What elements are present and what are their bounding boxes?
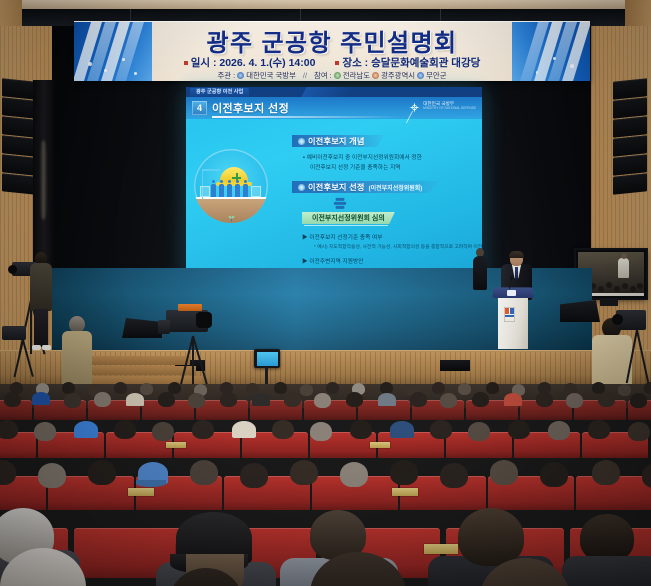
jeonnam-emblem-icon — [334, 72, 341, 79]
monitor-mount — [600, 298, 618, 306]
monitor-person — [618, 258, 629, 278]
gwangju-emblem-icon — [372, 72, 379, 79]
auditorium-photo: 광주 군공항 주민설명회 일시 : 2026. 4. 1.(수) 14:00 장… — [0, 0, 651, 586]
ministry-logo: 대한민국 국방부 MINISTRY OF NATIONAL DEFENSE — [409, 100, 476, 111]
audience-head-dark — [458, 508, 524, 566]
slide-item-2: ▶ 이전주변지역 지원방안 — [302, 257, 363, 265]
confidence-monitor — [254, 349, 280, 368]
event-banner: 광주 군공항 주민설명회 일시 : 2026. 4. 1.(수) 14:00 장… — [74, 21, 590, 81]
banner-title: 광주 군공항 주민설명회 — [152, 25, 512, 55]
ministry-logo-text: 대한민국 국방부 MINISTRY OF NATIONAL DEFENSE — [423, 101, 476, 111]
line-array-speaker-left — [2, 78, 36, 195]
banner-subtitle: 일시 : 2026. 4. 1.(수) 14:00 장소 : 승달문화예술회관 … — [152, 55, 512, 70]
projection-screen: 광주 군공항 이전 사업 4 이전후보지 선정 대한민국 국방부 MINISTR… — [186, 87, 482, 283]
slide-block2-heading: 이전후보지 선정 (이전부지선정위원회) — [292, 181, 440, 193]
slide-block1-heading: 이전후보지 개념 — [292, 135, 384, 147]
mnd-emblem-icon — [237, 72, 244, 79]
committee-icon — [332, 197, 346, 209]
muan-emblem-icon — [417, 72, 424, 79]
seat-nameplate — [370, 442, 390, 448]
banner-place: 장소 : 승달문화예술회관 대강당 — [335, 55, 480, 70]
slide-block1-body-1: ▪ 예비이전후보지 중 이전부지선정위원회에서 정한 — [303, 153, 422, 161]
slide-block2-pill: 이전부지선정위원회 심의 — [302, 212, 395, 224]
podium-logo-icon — [504, 307, 515, 322]
camera-far-left — [2, 326, 26, 340]
slide-block1-body-2: 이전후보지 선정 기준을 충족하는 지역 — [310, 163, 401, 171]
podium-emblem-icon — [507, 290, 516, 296]
seat-nameplate — [424, 544, 458, 554]
banner-participants: 참여 : 전라남도 광주광역시 무안군 — [314, 70, 447, 81]
stage-attendant — [473, 248, 487, 290]
banner-decor-right — [512, 22, 590, 81]
slide-section-number: 4 — [192, 101, 207, 115]
seat-nameplate — [392, 488, 418, 496]
banner-date: 일시 : 2026. 4. 1.(수) 14:00 — [184, 55, 316, 70]
curtain-fold-highlight — [40, 140, 47, 220]
banner-decor-left — [74, 22, 152, 81]
slide-item-1-sub: * 예시) 지도적합작용성, 사전적 가능성, 사회적합의성 등을 종합적으로 … — [314, 243, 482, 250]
banner-separator: // — [303, 71, 307, 80]
slide-tab-label: 광주 군공항 이전 사업 — [190, 88, 249, 97]
slide-title-underline — [212, 116, 402, 118]
podium — [493, 287, 533, 349]
slide-section-title: 이전후보지 선정 — [212, 101, 289, 115]
seat-nameplate — [128, 488, 154, 496]
slide-item-1: ▶ 이전후보지 선정기준 충족 여부 — [302, 233, 383, 241]
banner-host: 주관 : 대한민국 국방부 — [217, 70, 295, 81]
seedling-icon — [227, 210, 236, 219]
cameraman-left — [30, 252, 52, 350]
seat-nameplate — [166, 442, 186, 448]
bullet-dot-icon — [299, 185, 304, 190]
line-array-speaker-right — [613, 78, 647, 195]
slide-illustration — [194, 149, 268, 223]
audience-seating — [0, 378, 651, 586]
bullet-dot-icon — [299, 139, 304, 144]
ministry-emblem-icon — [409, 100, 420, 111]
banner-organizers: 주관 : 대한민국 국방부 // 참여 : 전라남도 광주광역시 무안군 — [152, 69, 512, 81]
tripod-far-left — [8, 340, 38, 380]
